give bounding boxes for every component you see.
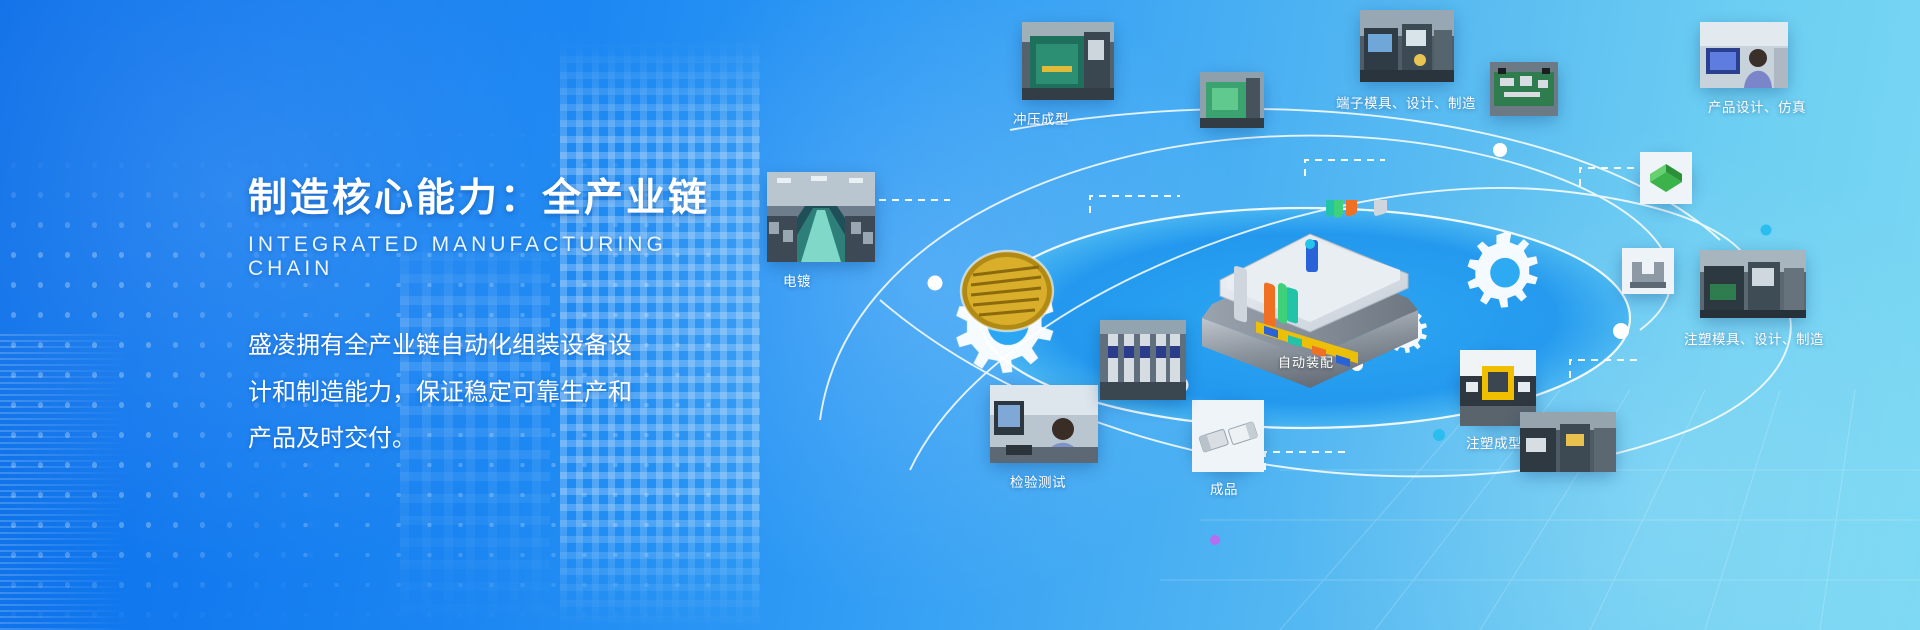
node-inspection-test-label: 检验测试 <box>1010 471 1066 491</box>
hub-automatic-assembly[interactable]: 自动装配 <box>1160 200 1450 405</box>
page-subtitle: INTEGRATED MANUFACTURING CHAIN <box>248 233 718 281</box>
node-green-box-decorative <box>1640 152 1692 204</box>
green-machine-icon <box>1200 72 1264 128</box>
node-clamp-decorative <box>1622 248 1674 294</box>
node-injection-mold-label: 注塑模具、设计、制造 <box>1684 328 1824 348</box>
node-green-machine-decorative <box>1200 72 1264 128</box>
node-production-line-decorative <box>1520 412 1616 472</box>
terminal-mold-photo-icon <box>1360 10 1454 82</box>
process-chain-diagram: 自动装配 电镀 <box>760 0 1920 630</box>
node-terminal-mold-label: 端子模具、设计、制造 <box>1336 92 1476 112</box>
inspection-test-photo-icon <box>990 385 1098 463</box>
test-rack-photo-icon <box>1100 320 1186 400</box>
node-product-design[interactable]: 产品设计、仿真 <box>1700 22 1788 88</box>
node-finished-product-label: 成品 <box>1210 478 1238 498</box>
node-finished-product[interactable]: 成品 <box>1192 400 1264 472</box>
manufacturing-chain-banner: 制造核心能力：全产业链 INTEGRATED MANUFACTURING CHA… <box>0 0 1920 630</box>
node-plating-label: 电镀 <box>783 270 811 290</box>
node-terminal-mold[interactable]: 端子模具、设计、制造 <box>1360 10 1454 82</box>
page-title: 制造核心能力：全产业链 <box>248 178 718 221</box>
node-inspection-test[interactable]: 检验测试 <box>990 385 1098 463</box>
node-pcb-decorative <box>1490 62 1558 116</box>
copy-block: 制造核心能力：全产业链 INTEGRATED MANUFACTURING CHA… <box>248 178 718 463</box>
assembly-machine-icon <box>1160 200 1450 405</box>
gold-coil-icon <box>953 245 1061 337</box>
finished-product-photo-icon <box>1192 400 1264 472</box>
hub-label: 自动装配 <box>1278 352 1334 371</box>
body-copy: 盛凌拥有全产业链自动化组装设备设 计和制造能力，保证稳定可靠生产和 产品及时交付… <box>248 323 718 463</box>
body-line-3: 产品及时交付。 <box>248 416 718 463</box>
stamping-machine-photo-icon <box>1022 22 1114 100</box>
node-injection-mold[interactable]: 注塑模具、设计、制造 <box>1700 250 1806 318</box>
pcb-photo-icon <box>1490 62 1558 116</box>
body-line-2: 计和制造能力，保证稳定可靠生产和 <box>248 370 718 417</box>
node-plating[interactable]: 电镀 <box>767 172 875 262</box>
node-stamping-label: 冲压成型 <box>1013 108 1069 128</box>
injection-mold-photo-icon <box>1700 250 1806 318</box>
node-stamping[interactable]: 冲压成型 <box>1022 22 1114 100</box>
clamp-icon <box>1622 248 1674 294</box>
node-test-rack-decorative <box>1100 320 1186 400</box>
node-injection-molding-label: 注塑成型 <box>1466 432 1522 452</box>
node-product-design-label: 产品设计、仿真 <box>1708 96 1806 116</box>
production-line-photo-icon <box>1520 412 1616 472</box>
body-line-1: 盛凌拥有全产业链自动化组装设备设 <box>248 323 718 370</box>
green-box-icon <box>1640 152 1692 204</box>
product-design-photo-icon <box>1700 22 1788 88</box>
plating-line-photo-icon <box>767 172 875 262</box>
